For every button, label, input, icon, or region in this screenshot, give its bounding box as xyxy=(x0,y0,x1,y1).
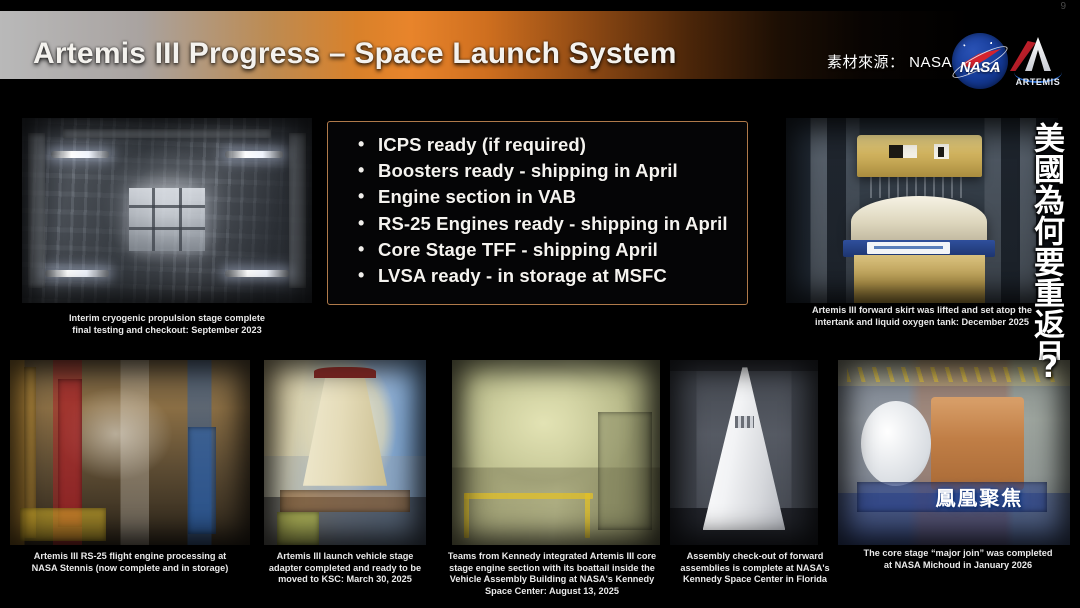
lvsa-photo xyxy=(264,360,426,545)
forward-skirt-photo xyxy=(786,118,1058,303)
skirt-marking xyxy=(938,147,944,157)
intertank-body xyxy=(854,255,985,303)
artemis-logo-wordmark: ARTEMIS xyxy=(1012,77,1064,87)
photo-tile-engine-section xyxy=(452,360,660,545)
icps-hardware xyxy=(129,188,204,251)
core-stage-photo: 鳳凰聚焦 xyxy=(838,360,1070,545)
core-stage-barrel xyxy=(931,397,1024,490)
caption-engine-section: Teams from Kennedy integrated Artemis II… xyxy=(428,551,676,597)
photo-tile-forward-assembly xyxy=(670,360,818,545)
status-bullet-list: ICPS ready (if required) Boosters ready … xyxy=(356,132,747,289)
status-bullet-panel: ICPS ready (if required) Boosters ready … xyxy=(327,121,748,305)
photo-tile-core-stage: 鳳凰聚焦 xyxy=(838,360,1070,545)
photo-tile-icps xyxy=(22,118,312,303)
overhead-crane xyxy=(870,175,968,197)
caption-line: Space Center: August 13, 2025 xyxy=(428,586,676,598)
caption-line: Artemis III launch vehicle stage xyxy=(256,551,434,563)
nasa-logo-wordmark: NASA xyxy=(952,59,1008,76)
work-rail xyxy=(585,493,590,537)
bay-light xyxy=(225,151,283,158)
caption-line: final testing and checkout: September 20… xyxy=(22,325,312,337)
caption-line: Teams from Kennedy integrated Artemis II… xyxy=(428,551,676,563)
caption-line: The core stage “major join” was complete… xyxy=(840,548,1076,560)
transport-cradle xyxy=(280,490,410,512)
structural-strut xyxy=(289,133,306,288)
caption-line: assemblies is complete at NASA's xyxy=(660,563,850,575)
caption-lvsa: Artemis III launch vehicle stage adapter… xyxy=(256,551,434,586)
bay-light xyxy=(225,270,289,277)
source-credit-label: 素材來源： NASA xyxy=(827,51,952,72)
artemis-logo-icon: ARTEMIS xyxy=(1012,33,1064,89)
caption-line: Vehicle Assembly Building at NASA's Kenn… xyxy=(428,574,676,586)
vab-structure xyxy=(598,412,652,530)
caption-icps: Interim cryogenic propulsion stage compl… xyxy=(22,313,312,336)
photo-tile-forward-skirt xyxy=(786,118,1058,303)
worker-vest xyxy=(277,512,319,545)
payload-shroud xyxy=(703,367,786,530)
bullet-item: ICPS ready (if required) xyxy=(356,132,747,158)
caption-forward-assembly: Assembly check-out of forward assemblies… xyxy=(660,551,850,586)
photo-tile-rs25 xyxy=(10,360,250,545)
engine-section-photo xyxy=(452,360,660,545)
bullet-item: Engine section in VAB xyxy=(356,184,747,210)
rs25-engine-photo xyxy=(10,360,250,545)
caption-line: NASA Stennis (now complete and in storag… xyxy=(10,563,250,575)
frame-bar xyxy=(152,188,155,251)
thruster-ports xyxy=(735,416,754,429)
slide-title-bar: Artemis III Progress – Space Launch Syst… xyxy=(0,11,1080,79)
caption-line: at NASA Michoud in January 2026 xyxy=(840,560,1076,572)
overhead-crane xyxy=(847,367,1060,382)
frame-bar xyxy=(129,205,204,208)
bay-light xyxy=(51,151,109,158)
frame-bar xyxy=(129,227,204,230)
yellow-stand xyxy=(20,508,106,541)
lvsa-cap xyxy=(314,367,376,378)
nasa-meatball-icon: NASA xyxy=(952,33,1008,89)
page-title: Artemis III Progress – Space Launch Syst… xyxy=(33,37,677,71)
slide-page-number: 9 xyxy=(1060,1,1066,12)
work-rail xyxy=(464,493,593,499)
headline-question-mark: ? xyxy=(1041,350,1058,385)
caption-line: Kennedy Space Center in Florida xyxy=(660,574,850,586)
bullet-item: Boosters ready - shipping in April xyxy=(356,158,747,184)
forward-assembly-photo xyxy=(670,360,818,545)
lox-tank xyxy=(861,401,931,486)
skirt-marking xyxy=(903,145,917,158)
skirt-marking xyxy=(889,145,903,158)
caption-rs25: Artemis III RS-25 flight engine processi… xyxy=(10,551,250,574)
caption-line: Artemis III RS-25 flight engine processi… xyxy=(10,551,250,563)
structural-strut xyxy=(28,133,45,288)
caption-forward-skirt: Artemis III forward skirt was lifted and… xyxy=(780,305,1064,328)
caption-line: moved to KSC: March 30, 2025 xyxy=(256,574,434,586)
bullet-item: LVSA ready - in storage at MSFC xyxy=(356,263,747,289)
source-credit-block: 素材來源： NASA NASA ARTEMIS xyxy=(827,33,1064,89)
photo-tile-lvsa xyxy=(264,360,426,545)
bay-light xyxy=(45,270,109,277)
frame-bar xyxy=(179,188,182,251)
forward-skirt-hardware xyxy=(857,135,982,178)
lvsa-cone xyxy=(303,371,387,486)
caption-line: intertank and liquid oxygen tank: Decemb… xyxy=(780,317,1064,329)
boeing-banner xyxy=(867,242,949,254)
caption-line: Assembly check-out of forward xyxy=(660,551,850,563)
caption-line: Interim cryogenic propulsion stage compl… xyxy=(22,313,312,325)
work-rail xyxy=(464,493,469,537)
bullet-item: Core Stage TFF - shipping April xyxy=(356,237,747,263)
presentation-slide: Artemis III Progress – Space Launch Syst… xyxy=(0,0,1080,608)
red-scaffold xyxy=(58,379,82,527)
caption-core-stage: The core stage “major join” was complete… xyxy=(840,548,1076,571)
bullet-item: RS-25 Engines ready - shipping in April xyxy=(356,211,747,237)
technician-figure xyxy=(188,427,217,534)
structural-strut xyxy=(63,129,272,138)
caption-line: stage engine section with its boattail i… xyxy=(428,563,676,575)
broadcaster-watermark: 鳳凰聚焦 xyxy=(935,482,1023,511)
caption-line: adapter completed and ready to be xyxy=(256,563,434,575)
icps-photo xyxy=(22,118,312,303)
caption-line: Artemis III forward skirt was lifted and… xyxy=(780,305,1064,317)
